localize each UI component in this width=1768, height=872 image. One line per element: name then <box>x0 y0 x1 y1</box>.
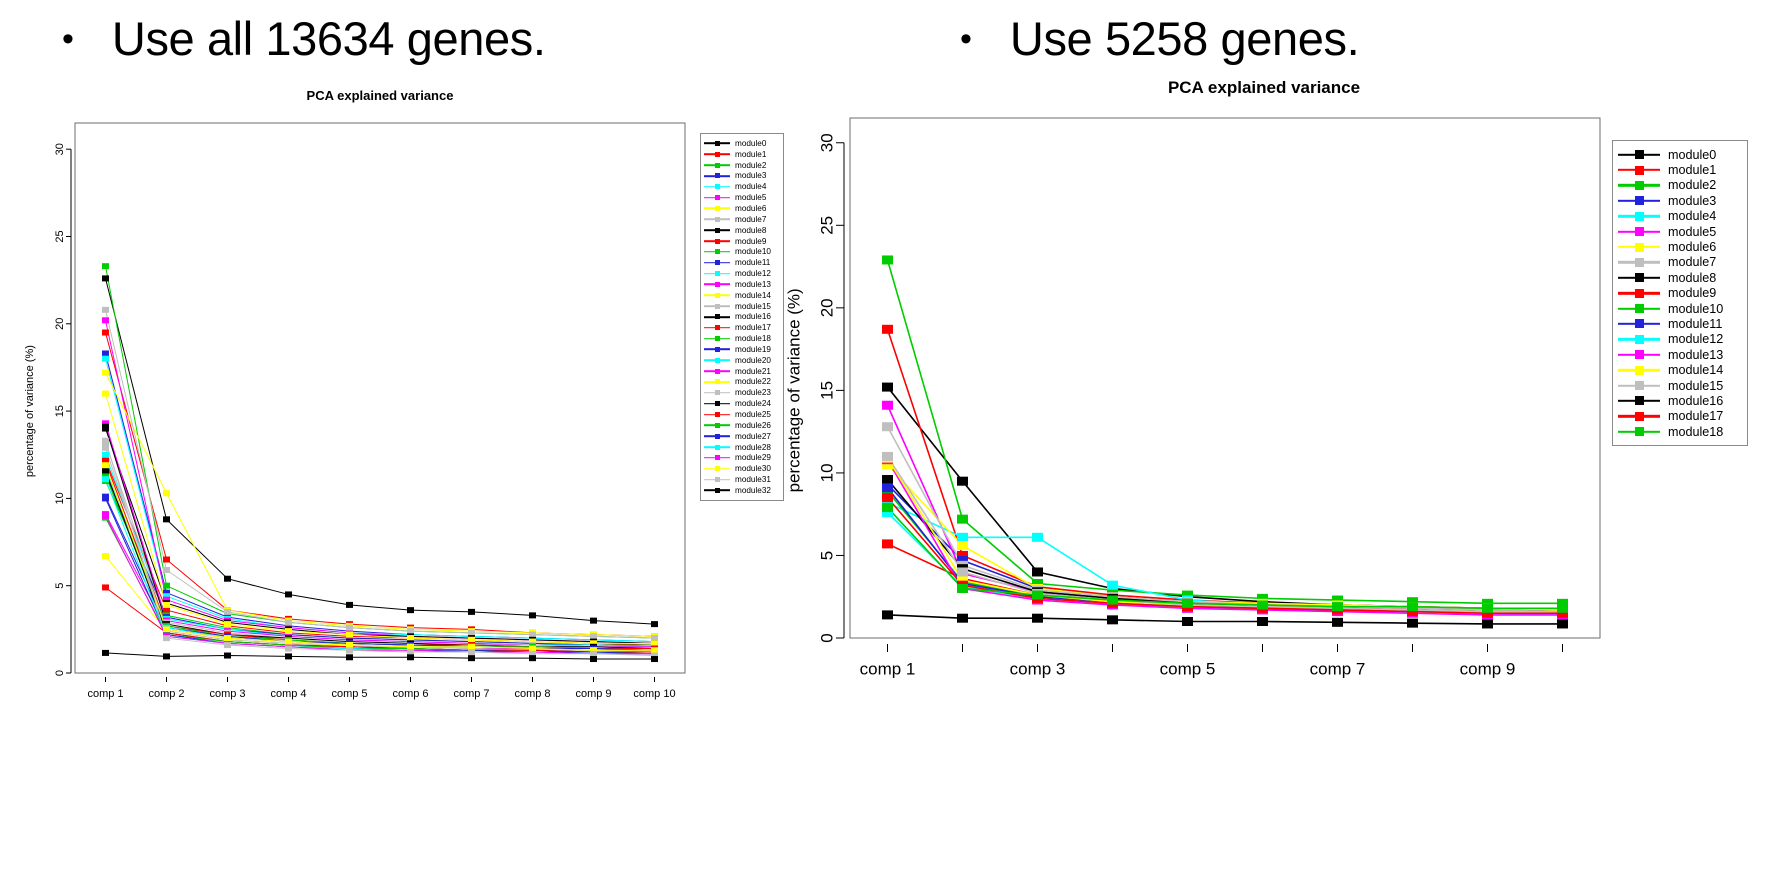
series-marker <box>407 635 414 641</box>
series-marker <box>346 625 353 631</box>
legend-item: module5 <box>704 192 780 203</box>
series-marker <box>590 656 597 662</box>
legend-right[interactable]: module0module1module2module3module4modul… <box>1612 140 1748 446</box>
legend-label: module13 <box>1668 348 1723 362</box>
legend-item: module4 <box>1618 209 1742 224</box>
series-marker <box>285 591 292 597</box>
legend-key-icon <box>1618 317 1660 331</box>
series-marker <box>1257 600 1268 609</box>
legend-key-icon <box>704 225 730 235</box>
legend-label: module15 <box>1668 379 1723 393</box>
legend-label: module6 <box>1668 240 1716 254</box>
legend-label: module28 <box>735 443 771 452</box>
legend-item: module24 <box>704 398 780 409</box>
series-marker <box>346 602 353 608</box>
legend-item: module14 <box>704 290 780 301</box>
legend-key-icon <box>704 344 730 354</box>
series-marker <box>1107 596 1118 605</box>
series-marker <box>102 424 109 430</box>
y-tick-label: 20 <box>818 298 837 317</box>
series-marker <box>1032 614 1043 623</box>
legend-key-icon <box>1618 255 1660 269</box>
legend-item: module18 <box>704 333 780 344</box>
series-marker <box>102 391 109 397</box>
series-marker <box>102 330 109 336</box>
legend-item: module15 <box>1618 378 1742 393</box>
legend-label: module12 <box>735 269 771 278</box>
legend-key-icon <box>704 171 730 181</box>
legend-label: module19 <box>735 345 771 354</box>
series-marker <box>407 654 414 660</box>
legend-key-icon <box>704 442 730 452</box>
series-marker <box>1107 581 1118 590</box>
legend-key-icon <box>1618 348 1660 362</box>
legend-label: module18 <box>735 334 771 343</box>
bullet-text-right: Use 5258 genes. <box>1010 14 1359 63</box>
x-tick-label: comp 3 <box>1010 660 1066 679</box>
legend-key-icon <box>704 269 730 279</box>
legend-left[interactable]: module0module1module2module3module4modul… <box>700 133 784 501</box>
legend-label: module16 <box>735 312 771 321</box>
legend-key-icon <box>704 193 730 203</box>
legend-item: module23 <box>704 387 780 398</box>
series-marker <box>102 275 109 281</box>
series-marker <box>468 637 475 643</box>
series-marker <box>163 602 170 608</box>
legend-item: module1 <box>704 149 780 160</box>
legend-item: module3 <box>1618 193 1742 208</box>
series-marker <box>882 493 893 502</box>
legend-label: module29 <box>735 453 771 462</box>
series-marker <box>1182 599 1193 608</box>
legend-label: module21 <box>735 367 771 376</box>
series-marker <box>882 483 893 492</box>
legend-label: module9 <box>735 237 766 246</box>
x-tick-label: comp 7 <box>1310 660 1366 679</box>
series-marker <box>102 513 109 519</box>
series-marker <box>102 307 109 313</box>
x-tick-label: comp 3 <box>209 688 245 700</box>
series-marker <box>468 630 475 636</box>
legend-label: module24 <box>735 399 771 408</box>
legend-label: module5 <box>735 193 766 202</box>
legend-item: module17 <box>704 322 780 333</box>
series-marker <box>468 649 475 655</box>
legend-key-icon <box>1618 225 1660 239</box>
legend-label: module32 <box>735 486 771 495</box>
legend-label: module13 <box>735 280 771 289</box>
series-marker <box>468 609 475 615</box>
plot-svg-left: 051015202530percentage of variance (%)co… <box>0 88 800 778</box>
legend-item: module0 <box>704 138 780 149</box>
legend-key-icon <box>704 485 730 495</box>
legend-key-icon <box>1618 363 1660 377</box>
legend-key-icon <box>704 355 730 365</box>
legend-label: module15 <box>735 302 771 311</box>
legend-item: module13 <box>704 279 780 290</box>
legend-item: module17 <box>1618 409 1742 424</box>
legend-key-icon <box>704 377 730 387</box>
series-marker <box>651 640 658 646</box>
legend-key-icon <box>1618 394 1660 408</box>
x-tick-label: comp 5 <box>331 688 367 700</box>
series-marker <box>285 653 292 659</box>
legend-label: module25 <box>735 410 771 419</box>
legend-item: module12 <box>704 268 780 279</box>
legend-label: module30 <box>735 464 771 473</box>
y-tick-label: 20 <box>54 318 66 330</box>
legend-item: module7 <box>704 214 780 225</box>
legend-label: module0 <box>735 139 766 148</box>
series-marker <box>1257 617 1268 626</box>
legend-item: module4 <box>704 181 780 192</box>
y-axis-title: percentage of variance (%) <box>24 345 36 477</box>
x-tick-label: comp 6 <box>392 688 428 700</box>
series-marker <box>224 621 231 627</box>
series-marker <box>102 584 109 590</box>
series-marker <box>1407 602 1418 611</box>
legend-item: module2 <box>704 160 780 171</box>
x-tick-label: comp 4 <box>270 688 306 700</box>
legend-key-icon <box>1618 409 1660 423</box>
series-marker <box>407 649 414 655</box>
bullet-text-left: Use all 13634 genes. <box>112 14 546 63</box>
series-marker <box>102 445 109 451</box>
series-marker <box>882 539 893 548</box>
legend-label: module17 <box>1668 409 1723 423</box>
legend-item: module3 <box>704 171 780 182</box>
legend-item: module18 <box>1618 424 1742 439</box>
legend-label: module14 <box>1668 363 1723 377</box>
y-tick-label: 5 <box>54 583 66 589</box>
series-marker <box>102 356 109 362</box>
x-tick-label: comp 5 <box>1160 660 1216 679</box>
legend-label: module1 <box>735 150 766 159</box>
series-marker <box>882 255 893 264</box>
series-marker <box>651 647 658 653</box>
y-tick-label: 30 <box>54 143 66 155</box>
series-marker <box>163 567 170 573</box>
x-tick-label: comp 2 <box>148 688 184 700</box>
series-marker <box>163 583 170 589</box>
series-marker <box>224 653 231 659</box>
series-marker <box>1032 567 1043 576</box>
legend-label: module10 <box>735 247 771 256</box>
legend-label: module20 <box>735 356 771 365</box>
legend-key-icon <box>704 410 730 420</box>
series-marker <box>407 628 414 634</box>
legend-label: module5 <box>1668 225 1716 239</box>
legend-label: module6 <box>735 204 766 213</box>
legend-item: module15 <box>704 301 780 312</box>
legend-item: module30 <box>704 463 780 474</box>
legend-item: module11 <box>1618 316 1742 331</box>
legend-label: module8 <box>735 226 766 235</box>
legend-item: module11 <box>704 257 780 268</box>
series-marker <box>957 614 968 623</box>
series-marker <box>285 639 292 645</box>
series-marker <box>102 438 109 444</box>
series-marker <box>957 541 968 550</box>
legend-item: module2 <box>1618 178 1742 193</box>
y-tick-label: 30 <box>818 133 837 152</box>
legend-item: module5 <box>1618 224 1742 239</box>
legend-item: module12 <box>1618 332 1742 347</box>
legend-label: module10 <box>1668 302 1723 316</box>
legend-item: module8 <box>704 225 780 236</box>
series-marker <box>529 632 536 638</box>
legend-item: module31 <box>704 474 780 485</box>
series-marker <box>651 656 658 662</box>
series-marker <box>102 553 109 559</box>
legend-key-icon <box>704 323 730 333</box>
legend-key-icon <box>1618 271 1660 285</box>
legend-key-icon <box>704 366 730 376</box>
series-marker <box>102 650 109 656</box>
legend-key-icon <box>704 279 730 289</box>
legend-label: module0 <box>1668 148 1716 162</box>
legend-label: module31 <box>735 475 771 484</box>
legend-key-icon <box>704 149 730 159</box>
legend-item: module28 <box>704 442 780 453</box>
legend-key-icon <box>1618 379 1660 393</box>
legend-item: module0 <box>1618 147 1742 162</box>
series-marker <box>882 422 893 431</box>
legend-item: module1 <box>1618 162 1742 177</box>
legend-key-icon <box>704 138 730 148</box>
y-tick-label: 10 <box>818 463 837 482</box>
legend-label: module23 <box>735 388 771 397</box>
series-marker <box>1482 604 1493 613</box>
series-marker <box>468 655 475 661</box>
legend-key-icon <box>704 258 730 268</box>
y-tick-label: 0 <box>818 633 837 642</box>
legend-key-icon <box>1618 240 1660 254</box>
series-marker <box>102 467 109 473</box>
series-marker <box>407 607 414 613</box>
series-marker <box>590 651 597 657</box>
series-marker <box>102 263 109 269</box>
legend-item: module8 <box>1618 270 1742 285</box>
series-marker <box>1557 604 1568 613</box>
series-marker <box>882 452 893 461</box>
series-marker <box>651 635 658 641</box>
bullet-left: • Use all 13634 genes. <box>62 14 546 63</box>
series-marker <box>102 317 109 323</box>
x-tick-label: comp 1 <box>860 660 916 679</box>
legend-key-icon <box>1618 148 1660 162</box>
series-marker <box>285 619 292 625</box>
series-marker <box>163 490 170 496</box>
series-marker <box>102 462 109 468</box>
legend-key-icon <box>1618 163 1660 177</box>
legend-label: module2 <box>1668 178 1716 192</box>
legend-label: module11 <box>735 258 770 267</box>
legend-label: module7 <box>735 215 766 224</box>
x-tick-label: comp 7 <box>453 688 489 700</box>
bullet-marker-right: • <box>960 22 972 56</box>
legend-item: module27 <box>704 431 780 442</box>
series-marker <box>1482 619 1493 628</box>
y-tick-label: 10 <box>54 492 66 504</box>
legend-key-icon <box>704 301 730 311</box>
series-marker <box>1032 533 1043 542</box>
legend-label: module18 <box>1668 425 1723 439</box>
series-marker <box>407 644 414 650</box>
legend-item: module9 <box>704 236 780 247</box>
series-marker <box>285 646 292 652</box>
legend-label: module7 <box>1668 255 1716 269</box>
x-tick-label: comp 1 <box>87 688 123 700</box>
legend-item: module6 <box>704 203 780 214</box>
legend-item: module13 <box>1618 347 1742 362</box>
series-marker <box>346 632 353 638</box>
legend-key-icon <box>704 214 730 224</box>
legend-key-icon <box>1618 209 1660 223</box>
series-marker <box>651 621 658 627</box>
series-marker <box>224 609 231 615</box>
series-marker <box>957 477 968 486</box>
legend-key-icon <box>704 431 730 441</box>
legend-item: module25 <box>704 409 780 420</box>
series-marker <box>1032 591 1043 600</box>
series-marker <box>468 644 475 650</box>
series-marker <box>224 635 231 641</box>
legend-label: module16 <box>1668 394 1723 408</box>
legend-key-icon <box>704 290 730 300</box>
series-marker <box>1332 602 1343 611</box>
legend-item: module10 <box>704 246 780 257</box>
legend-item: module16 <box>1618 393 1742 408</box>
series-marker <box>882 610 893 619</box>
series-marker <box>346 642 353 648</box>
legend-label: module17 <box>735 323 771 332</box>
plot-panel-left: PCA explained variance 051015202530perce… <box>0 88 800 778</box>
series-marker <box>163 635 170 641</box>
x-tick-label: comp 8 <box>514 688 550 700</box>
x-tick-label: comp 9 <box>1460 660 1516 679</box>
series-marker <box>102 350 109 356</box>
series-marker <box>163 653 170 659</box>
series-marker <box>163 607 170 613</box>
series-marker <box>957 584 968 593</box>
series-marker <box>1557 619 1568 628</box>
legend-label: module22 <box>735 377 771 386</box>
legend-item: module6 <box>1618 239 1742 254</box>
legend-key-icon <box>704 247 730 257</box>
legend-label: module26 <box>735 421 771 430</box>
series-marker <box>346 647 353 653</box>
plot-title-right: PCA explained variance <box>760 78 1768 98</box>
x-tick-label: comp 9 <box>575 688 611 700</box>
y-tick-label: 25 <box>54 230 66 242</box>
series-marker <box>224 642 231 648</box>
series-marker <box>346 654 353 660</box>
series-marker <box>285 628 292 634</box>
legend-item: module16 <box>704 312 780 323</box>
bullet-marker-left: • <box>62 22 74 56</box>
legend-item: module29 <box>704 452 780 463</box>
legend-key-icon <box>704 334 730 344</box>
legend-item: module10 <box>1618 301 1742 316</box>
series-marker <box>529 646 536 652</box>
series-marker <box>163 557 170 563</box>
series-marker <box>163 626 170 632</box>
bullet-right: • Use 5258 genes. <box>960 14 1359 63</box>
legend-key-icon <box>1618 178 1660 192</box>
legend-item: module7 <box>1618 255 1742 270</box>
legend-label: module4 <box>735 182 766 191</box>
legend-key-icon <box>1618 302 1660 316</box>
series-marker <box>102 370 109 376</box>
legend-key-icon <box>1618 332 1660 346</box>
legend-item: module22 <box>704 377 780 388</box>
legend-item: module14 <box>1618 362 1742 377</box>
legend-label: module8 <box>1668 271 1716 285</box>
series-marker <box>590 618 597 624</box>
legend-key-icon <box>704 236 730 246</box>
y-tick-label: 15 <box>818 381 837 400</box>
series-marker <box>882 475 893 484</box>
y-tick-label: 5 <box>818 551 837 560</box>
legend-label: module11 <box>1668 317 1722 331</box>
y-tick-label: 25 <box>818 216 837 235</box>
legend-label: module4 <box>1668 209 1716 223</box>
legend-key-icon <box>704 399 730 409</box>
legend-key-icon <box>704 475 730 485</box>
legend-item: module26 <box>704 420 780 431</box>
plot-title-left: PCA explained variance <box>0 88 760 103</box>
legend-key-icon <box>704 203 730 213</box>
series-marker <box>529 612 536 618</box>
series-marker <box>1407 619 1418 628</box>
series-marker <box>882 383 893 392</box>
legend-label: module3 <box>1668 194 1716 208</box>
series-marker <box>590 633 597 639</box>
legend-key-icon <box>704 388 730 398</box>
legend-key-icon <box>704 160 730 170</box>
y-axis-title: percentage of variance (%) <box>785 288 804 492</box>
series-marker <box>529 655 536 661</box>
legend-label: module14 <box>735 291 771 300</box>
legend-key-icon <box>704 453 730 463</box>
y-tick-label: 15 <box>54 405 66 417</box>
series-marker <box>957 515 968 524</box>
series-marker <box>102 476 109 482</box>
legend-key-icon <box>704 420 730 430</box>
legend-key-icon <box>704 182 730 192</box>
legend-item: module20 <box>704 355 780 366</box>
series-marker <box>1182 617 1193 626</box>
legend-key-icon <box>1618 194 1660 208</box>
legend-item: module19 <box>704 344 780 355</box>
legend-item: module21 <box>704 366 780 377</box>
series-marker <box>102 452 109 458</box>
legend-label: module27 <box>735 432 771 441</box>
series-marker <box>882 401 893 410</box>
legend-key-icon <box>704 464 730 474</box>
y-tick-label: 0 <box>54 670 66 676</box>
legend-item: module32 <box>704 485 780 496</box>
legend-label: module12 <box>1668 332 1723 346</box>
slide-canvas: • Use all 13634 genes. • Use 5258 genes.… <box>0 0 1768 872</box>
legend-label: module9 <box>1668 286 1716 300</box>
legend-key-icon <box>1618 425 1660 439</box>
series-marker <box>163 516 170 522</box>
series-marker <box>1107 615 1118 624</box>
legend-key-icon <box>1618 286 1660 300</box>
series-marker <box>102 495 109 501</box>
